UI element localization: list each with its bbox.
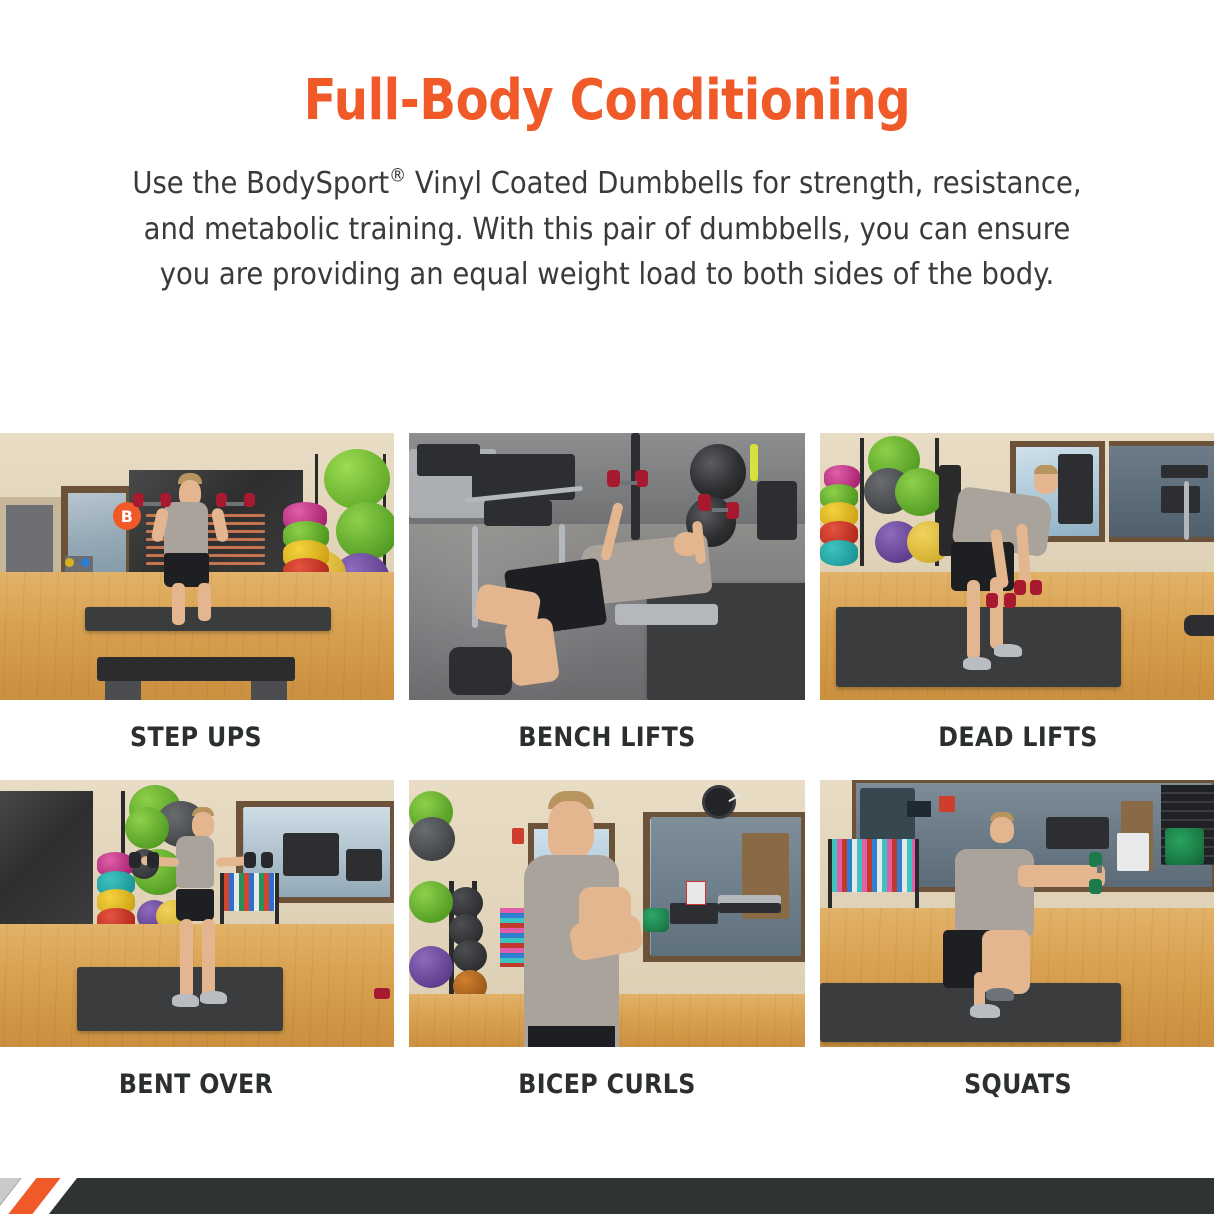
treadmill-screen <box>907 801 931 817</box>
person-head <box>192 812 214 838</box>
person-leg-right <box>198 583 211 621</box>
person-shoe <box>200 991 227 1004</box>
balance-trainer <box>820 540 858 566</box>
dumbbell-green <box>643 908 669 932</box>
machine-pad <box>417 444 480 476</box>
medicine-ball <box>453 940 487 972</box>
stability-ball <box>324 449 390 509</box>
step-riser <box>105 681 141 700</box>
bumper-plates <box>1165 828 1205 865</box>
exercise-card-squats: SQUATS <box>820 780 1214 1127</box>
person-hair <box>1034 465 1058 474</box>
reflected-dumbbells <box>670 903 718 924</box>
person-leg <box>202 919 215 999</box>
exercise-mat <box>647 583 805 700</box>
reflected-post <box>1184 481 1189 540</box>
water-cooler <box>1117 833 1149 870</box>
person-thigh <box>982 930 1030 994</box>
person-torso <box>955 849 1034 940</box>
exercise-caption: STEP UPS <box>22 722 370 753</box>
resistance-strap <box>750 444 758 481</box>
ball-rack-post <box>860 438 864 566</box>
dumbbell-handle <box>226 502 244 506</box>
dumbbell-red <box>698 494 711 511</box>
exercise-grid: B <box>0 433 1214 1127</box>
dumbbell-black <box>244 852 256 868</box>
exercise-card-bicep-curls: BICEP CURLS <box>409 780 805 1127</box>
fire-alarm-icon <box>512 828 524 844</box>
page-header: Full-Body Conditioning Use the BodySport… <box>0 0 1214 298</box>
exercise-photo-dead-lifts <box>820 433 1214 700</box>
dumbbell-rack <box>224 873 279 910</box>
person-torso <box>176 836 214 888</box>
stability-ball <box>409 946 453 988</box>
exercise-photo-bicep-curls <box>409 780 805 1047</box>
person-shoe <box>994 644 1022 657</box>
dumbbell-handle <box>712 508 728 512</box>
dumbbell-red <box>986 593 998 608</box>
dumbbell-red <box>216 493 227 507</box>
reflected-bench <box>1046 817 1109 849</box>
exercise-caption: DEAD LIFTS <box>844 722 1192 753</box>
reflected-rack <box>1161 465 1209 478</box>
exercise-card-step-ups: B <box>0 433 394 780</box>
person-leg <box>967 580 980 660</box>
dumbbell-handle <box>621 481 637 485</box>
step-riser <box>251 681 287 700</box>
dumbbell-rack <box>832 839 919 892</box>
dumbbell-red <box>244 493 255 507</box>
dumbbell-black <box>129 852 141 868</box>
dumbbell-green <box>1089 879 1102 894</box>
fire-alarm-icon <box>939 796 955 812</box>
exercise-caption: BENCH LIFTS <box>433 722 781 753</box>
subtitle-part-1: Use the BodySport <box>132 166 389 201</box>
person-leg <box>180 919 193 999</box>
person-shorts <box>176 889 214 921</box>
stability-ball <box>336 502 394 560</box>
exercise-grid-row-1: B <box>0 433 1214 780</box>
bodysport-banner <box>0 791 93 930</box>
weight-plate <box>690 444 746 500</box>
exercise-card-bench-lifts: BENCH LIFTS <box>409 433 805 780</box>
exercise-caption: BICEP CURLS <box>433 1069 781 1100</box>
page-subtitle: Use the BodySport® Vinyl Coated Dumbbell… <box>130 161 1084 298</box>
person-shoe <box>963 657 991 670</box>
exercise-card-bent-over: BENT OVER <box>0 780 394 1127</box>
floor-dumbbell <box>1184 615 1214 636</box>
person-shoe <box>970 1004 1000 1018</box>
exercise-caption: SQUATS <box>844 1069 1192 1100</box>
step-platform <box>97 657 295 681</box>
person-shoe <box>986 988 1014 1001</box>
dumbbell-red <box>607 470 620 487</box>
reflected-chair <box>346 849 382 881</box>
dumbbell-red <box>1014 580 1026 595</box>
stability-ball <box>125 807 169 849</box>
dumbbell-black <box>147 852 159 868</box>
exercise-grid-row-2: BENT OVER <box>0 780 1214 1127</box>
reflected-bench-pad <box>718 903 781 914</box>
dumbbell-handle <box>143 502 161 506</box>
bench-base <box>615 604 718 625</box>
person-torso <box>164 502 208 558</box>
registered-trademark-icon: ® <box>389 164 406 186</box>
dumbbell-black <box>261 852 273 868</box>
stability-ball <box>895 468 945 516</box>
person-leg-left <box>172 583 185 625</box>
person-head <box>548 801 594 859</box>
person-leg <box>504 617 560 687</box>
bench-roller-pad <box>449 647 512 695</box>
reflected-weights <box>1161 486 1201 513</box>
footer-accent-bar <box>0 1178 1214 1214</box>
exercise-caption: BENT OVER <box>22 1069 370 1100</box>
battle-rope <box>757 481 797 540</box>
page-title: Full-Body Conditioning <box>85 72 1129 131</box>
dumbbell-red <box>1004 593 1016 608</box>
person-shoe <box>172 994 199 1007</box>
reflected-treadmill <box>1058 454 1094 523</box>
person-bicep <box>579 887 630 940</box>
exercise-photo-bench-lifts <box>409 433 805 700</box>
exercise-photo-squats <box>820 780 1214 1047</box>
person-shorts <box>528 1026 615 1047</box>
exercise-card-dead-lifts: DEAD LIFTS <box>820 433 1214 780</box>
person-head <box>990 817 1014 843</box>
floor-dumbbell-red <box>374 988 390 999</box>
bench-seat <box>484 500 551 527</box>
dumbbell-red <box>1030 580 1042 595</box>
dumbbell-red <box>160 493 171 507</box>
person-leg <box>990 577 1003 649</box>
dumbbell-handle <box>1097 865 1102 873</box>
exercise-photo-bent-over <box>0 780 394 1047</box>
first-aid-box <box>686 881 706 905</box>
exercise-photo-step-ups: B <box>0 433 394 700</box>
reflected-treadmill <box>283 833 338 876</box>
